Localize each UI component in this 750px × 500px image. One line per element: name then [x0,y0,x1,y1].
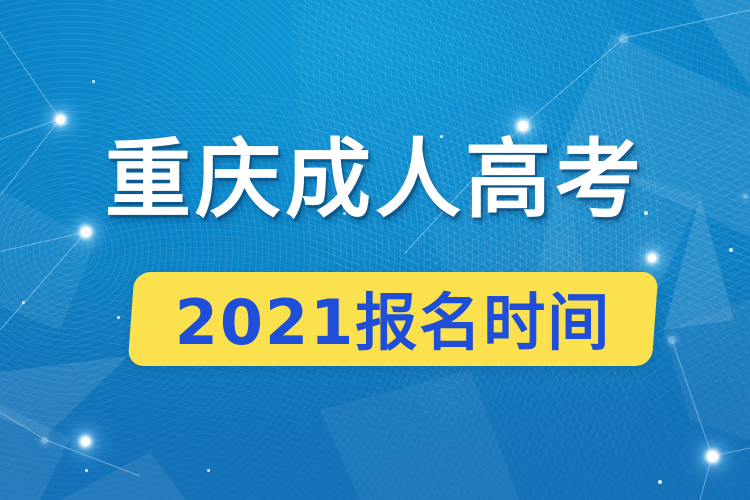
node-left-bottom-glow [81,437,90,446]
polygon-facet-layer [0,0,750,500]
promo-banner: 重庆成人高考 2021报名时间 [0,0,750,500]
subtitle-text: 2021报名时间 [131,272,655,366]
facet-top-right-sliver [690,0,750,86]
node-left-mid-glow [81,227,91,237]
node-bottom-left-soft [41,437,48,444]
node-lower-right-soft [668,336,676,344]
node-bottom-mid-small [85,469,88,472]
node-top-left-small [92,80,95,83]
link-lower-right3 [700,456,712,500]
node-right-glow [648,254,656,262]
node-bottom-small [207,469,210,472]
node-left-small-a [22,301,25,304]
node-center-soft [619,34,628,43]
node-lower-right-glow [707,451,718,462]
subtitle-ribbon: 2021报名时间 [131,272,655,366]
link-lower-right2 [712,448,750,456]
facet-bottom-mid [320,370,520,500]
page-title: 重庆成人高考 [0,132,750,228]
node-top-left-glow [56,115,65,124]
facet-bottom-left-tri [60,452,186,500]
node-bottom-right-small [658,480,662,484]
node-right-small-b [729,248,733,252]
node-left-small-b [117,316,120,319]
link-top-left [0,18,60,119]
